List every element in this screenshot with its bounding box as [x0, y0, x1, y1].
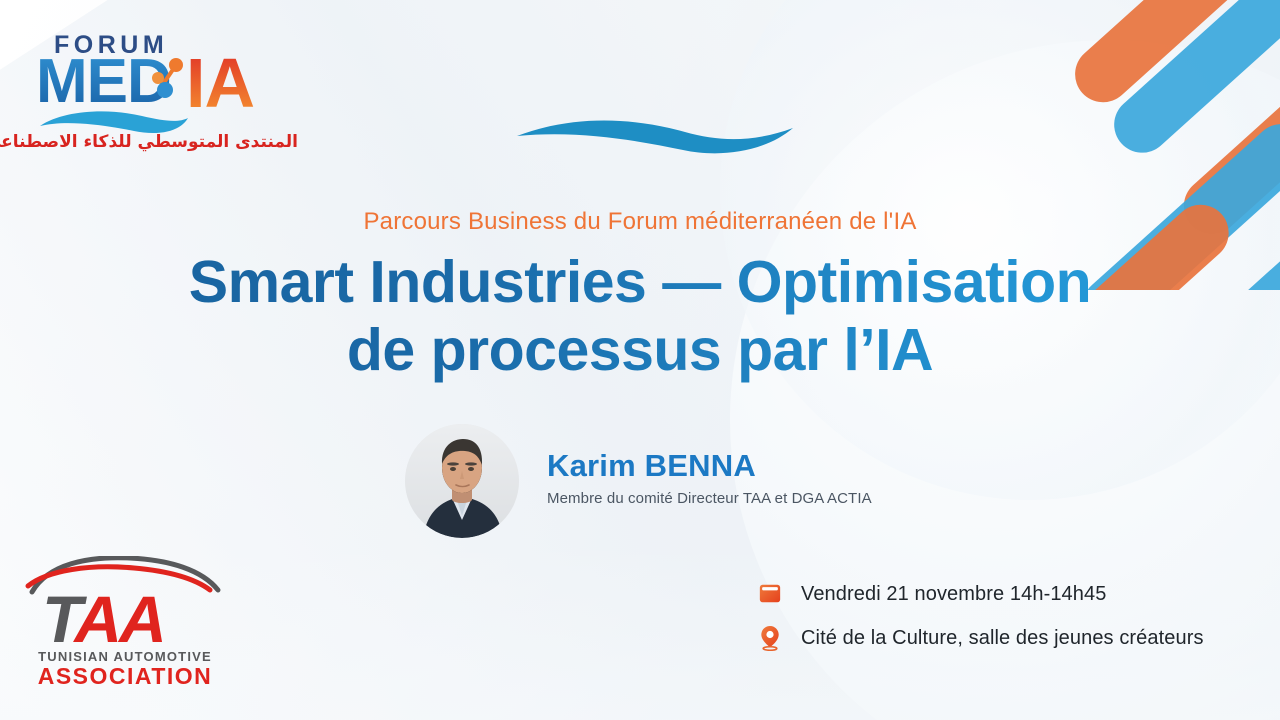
slide-title-line-1: Smart Industries — Optimisation	[90, 248, 1190, 316]
slide-eyebrow: Parcours Business du Forum méditerranéen…	[0, 208, 1280, 236]
molecule-node-icon	[146, 56, 190, 102]
meta-row-location: Cité de la Culture, salle des jeunes cré…	[757, 624, 1204, 652]
taa-subtitle-top: TUNISIAN AUTOMOTIVE	[35, 649, 215, 664]
meta-date-text: Vendredi 21 novembre 14h-14h45	[801, 583, 1106, 606]
taa-logo: TAA TUNISIAN AUTOMOTIVE ASSOCIATION	[18, 556, 228, 692]
slide-title-line-2: de processus par l’IA	[90, 316, 1190, 384]
meta-row-date: Vendredi 21 novembre 14h-14h45	[757, 580, 1204, 608]
meta-location-text: Cité de la Culture, salle des jeunes cré…	[801, 627, 1204, 650]
speaker-role: Membre du comité Directeur TAA et DGA AC…	[547, 490, 872, 507]
logo-word-ia: IA	[186, 48, 254, 118]
slide-title: Smart Industries — Optimisation de proce…	[90, 248, 1190, 385]
taa-letters: TAA	[42, 586, 164, 652]
speaker-block: Karim BENNA Membre du comité Directeur T…	[405, 424, 872, 538]
taa-letter-t: T	[42, 582, 74, 656]
event-meta: Vendredi 21 novembre 14h-14h45 Cité de l…	[757, 580, 1204, 652]
calendar-icon	[757, 580, 783, 608]
wave-swoosh-icon	[515, 108, 795, 162]
event-slide: FORUM MED IA المنتدى المتوسطي للذكاء الا…	[0, 0, 1280, 720]
location-pin-icon	[757, 624, 783, 652]
avatar	[405, 424, 519, 538]
speaker-text: Karim BENNA Membre du comité Directeur T…	[547, 449, 872, 513]
forum-med-ia-logo: FORUM MED IA المنتدى المتوسطي للذكاء الا…	[24, 28, 292, 160]
logo-arabic-tagline: المنتدى المتوسطي للذكاء الاصطناعي	[50, 132, 298, 152]
speaker-name: Karim BENNA	[547, 449, 872, 483]
taa-subtitle-bottom: ASSOCIATION	[35, 663, 215, 690]
taa-letters-aa: AA	[74, 582, 163, 656]
decorative-diagonal-bars	[1020, 0, 1280, 290]
